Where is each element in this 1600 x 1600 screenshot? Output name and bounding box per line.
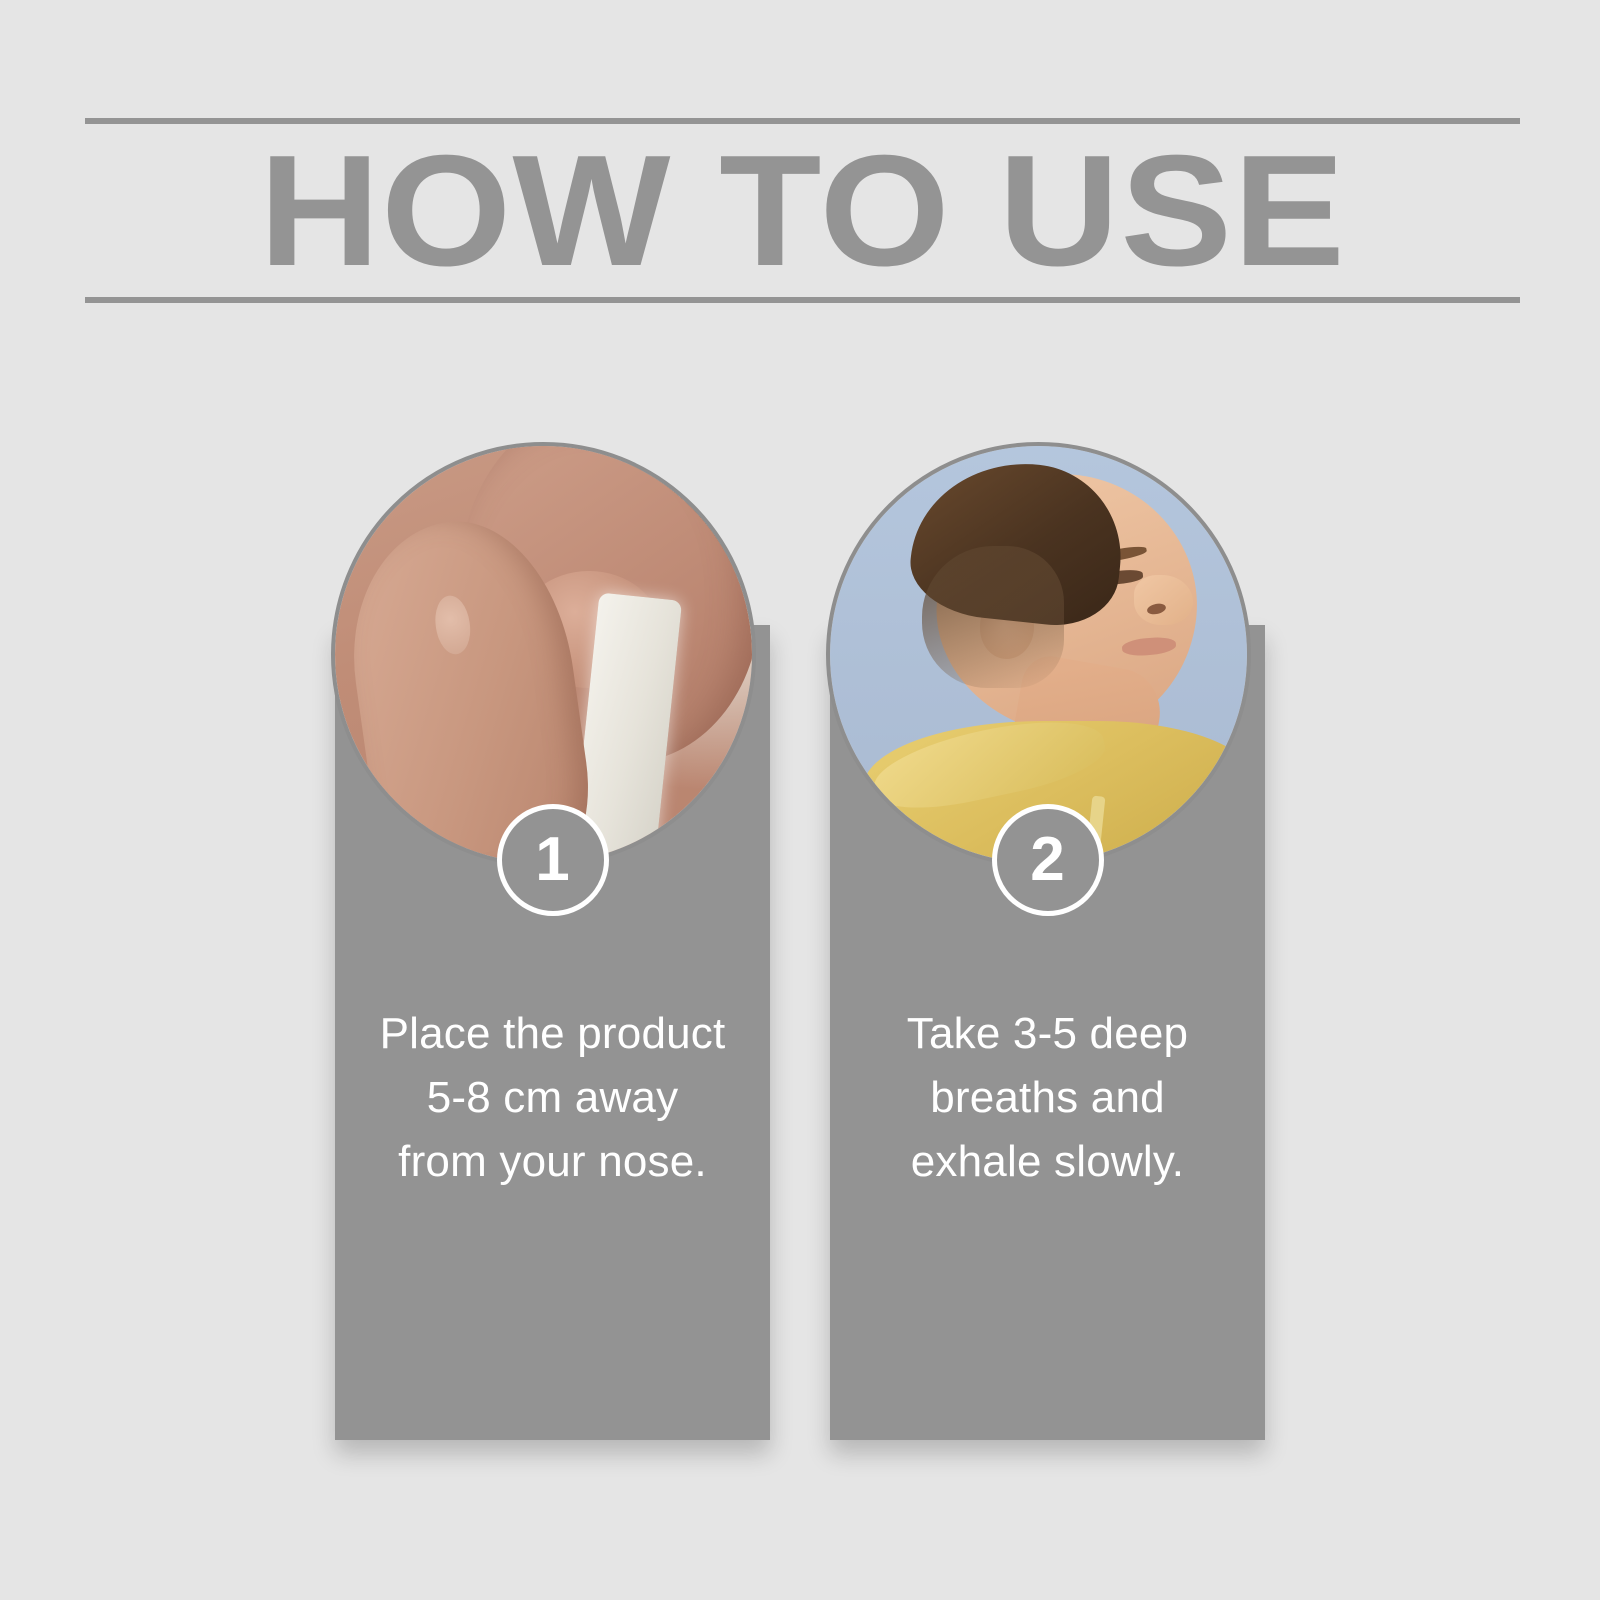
step-badge-2: 2: [992, 804, 1104, 916]
step-1-photo-inner: [335, 446, 752, 863]
step-card-1: 1 Place the product 5-8 cm away from you…: [335, 442, 770, 1440]
profile-nose-shape: [1134, 575, 1192, 625]
fingernail-shape: [432, 594, 475, 657]
step-1-photo: [331, 442, 756, 867]
hair-fade-shape: [922, 546, 1064, 688]
step-2-photo-inner: [830, 446, 1247, 863]
step-2-photo: [826, 442, 1251, 867]
man-breathing-illustration: [830, 446, 1247, 863]
step-caption-1: Place the product 5-8 cm away from your …: [353, 1002, 752, 1194]
how-to-use-infographic: HOW TO USE 1: [0, 0, 1600, 1600]
step-card-2: 2 Take 3-5 deep breaths and exhale slowl…: [830, 442, 1265, 1440]
step-badge-1: 1: [497, 804, 609, 916]
nose-product-illustration: [335, 446, 752, 863]
steps-container: 1 Place the product 5-8 cm away from you…: [0, 0, 1600, 1600]
step-caption-2: Take 3-5 deep breaths and exhale slowly.: [848, 1002, 1247, 1194]
